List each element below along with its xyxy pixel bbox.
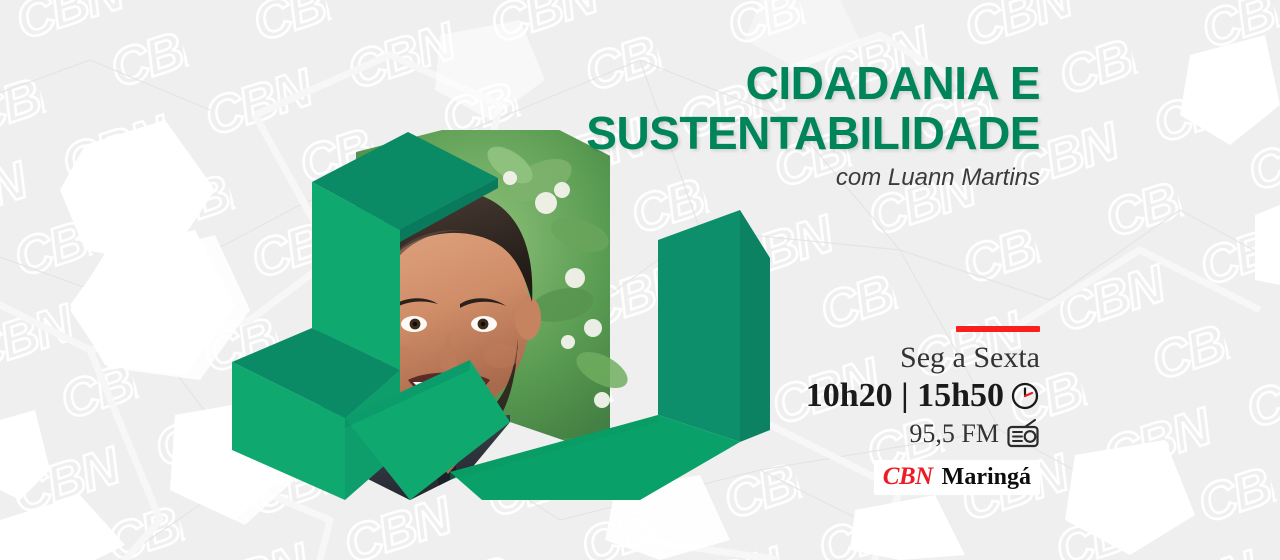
program-title-block: CIDADANIA E SUSTENTABILIDADE com Luann M… xyxy=(420,58,1040,192)
frequency-row: 95,5 FM xyxy=(740,419,1040,449)
cbn-wordmark: CBN xyxy=(883,463,933,491)
title-line-2: SUSTENTABILIDADE xyxy=(420,108,1040,158)
schedule-block: Seg a Sexta 10h20 | 15h50 95,5 FM xyxy=(740,326,1040,495)
red-accent-bar xyxy=(956,326,1040,332)
broadcast-times-row: 10h20 | 15h50 xyxy=(740,377,1040,415)
cbn-maringa-logo: CBN Maringá xyxy=(874,460,1040,495)
radio-icon xyxy=(1006,419,1040,449)
title-line-1: CIDADANIA E xyxy=(420,58,1040,108)
program-host-subtitle: com Luann Martins xyxy=(420,164,1040,192)
station-logo-wrapper: CBN Maringá xyxy=(740,449,1040,495)
clock-icon xyxy=(1010,381,1040,411)
broadcast-times: 10h20 | 15h50 xyxy=(806,377,1004,415)
radio-program-banner: CBN CBN xyxy=(0,0,1280,560)
cbn-city-name: Maringá xyxy=(942,464,1031,491)
radio-frequency: 95,5 FM xyxy=(909,419,999,449)
broadcast-days: Seg a Sexta xyxy=(740,341,1040,375)
